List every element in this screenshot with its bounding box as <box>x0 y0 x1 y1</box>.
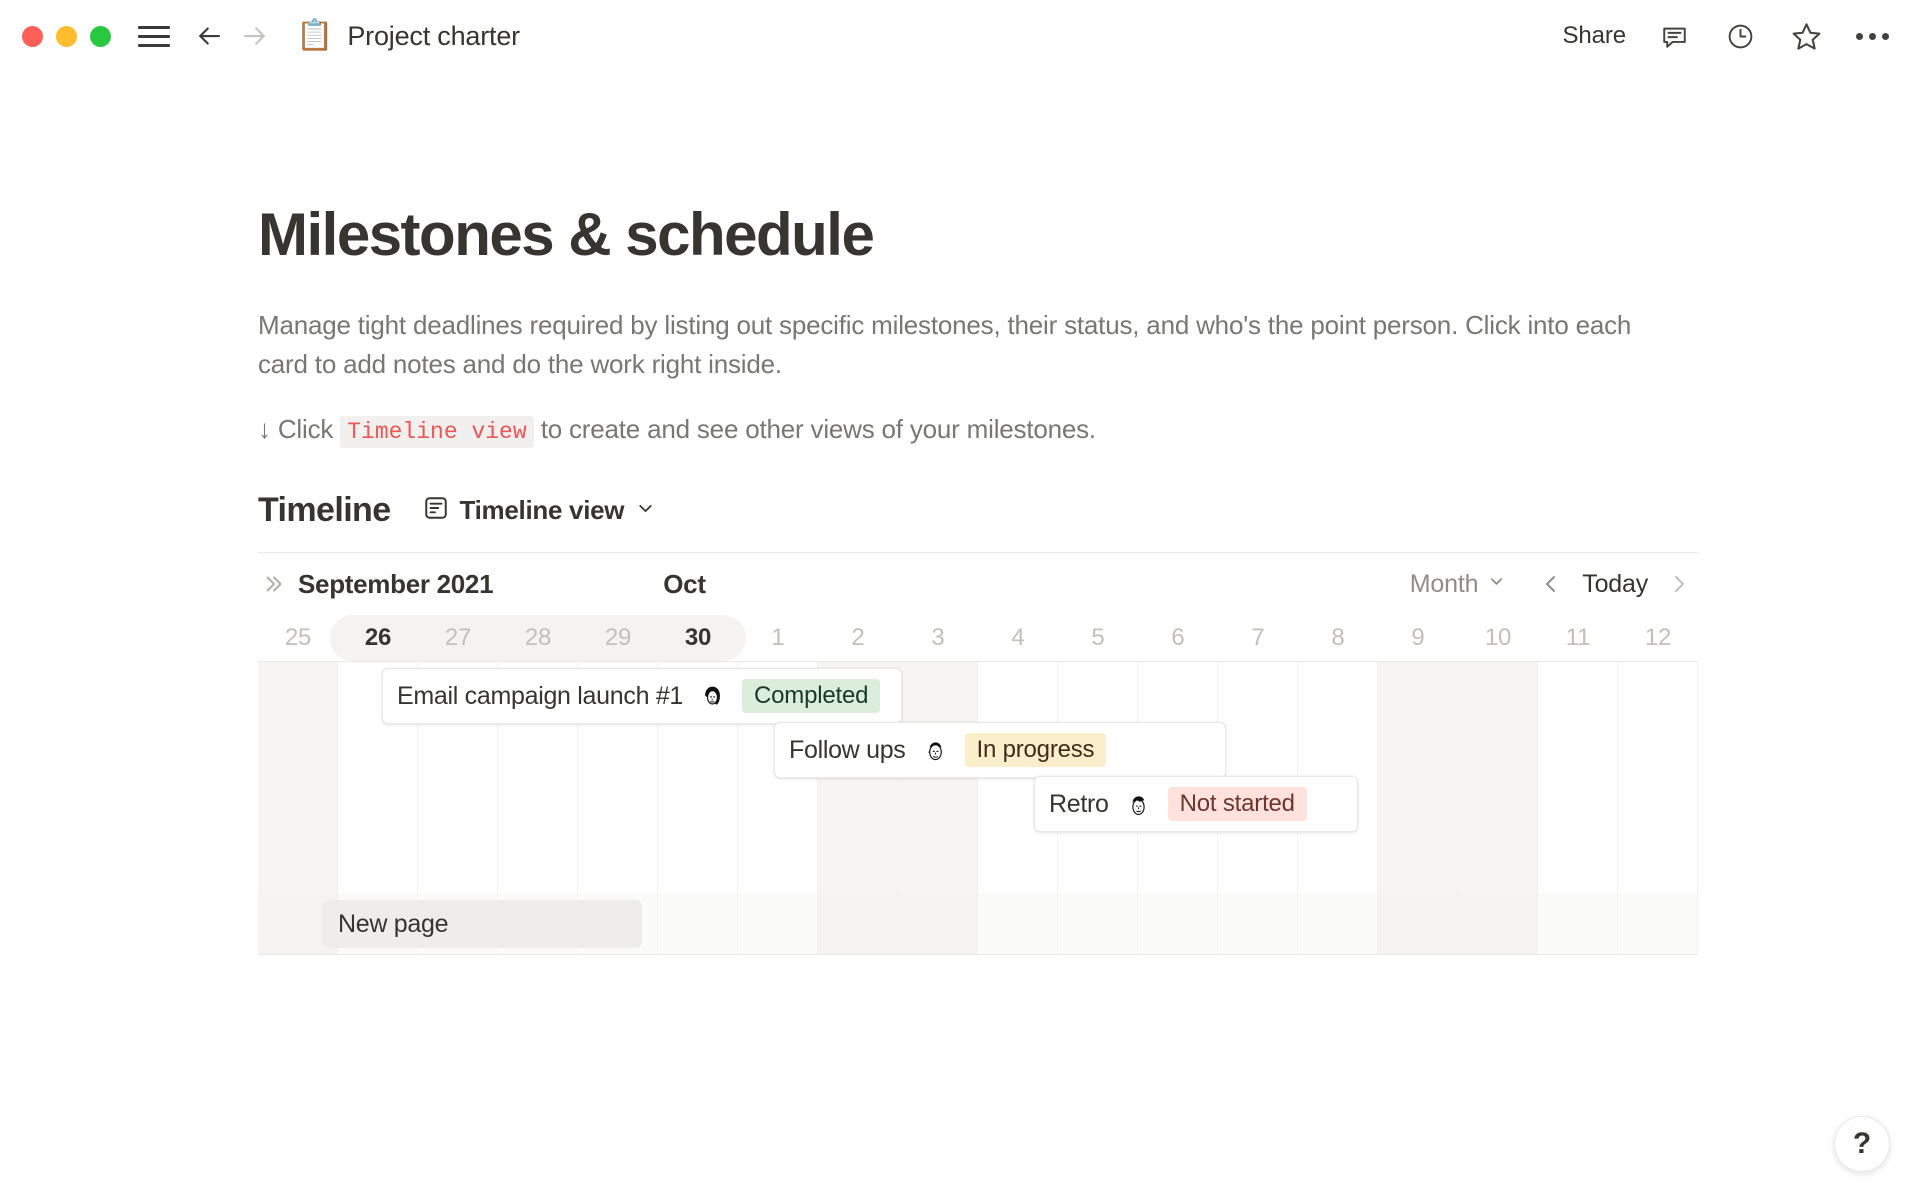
new-page-button[interactable]: New page <box>322 900 642 948</box>
document-title: Project charter <box>347 21 520 52</box>
page-description: Manage tight deadlines required by listi… <box>258 306 1638 384</box>
page-title: Milestones & schedule <box>258 202 1698 268</box>
day-header-cell[interactable]: 12 <box>1618 615 1698 661</box>
timeline-toolbar-right: Month Today <box>1410 567 1696 601</box>
timeline-month-secondary: Oct <box>663 569 705 600</box>
timeline-card[interactable]: Retro Not started <box>1034 776 1358 832</box>
timeline-newrow-column <box>1298 893 1378 955</box>
timeline-newrow-column <box>898 893 978 955</box>
timeline-grid-column <box>1538 662 1618 893</box>
timeline-newrow-column <box>1378 893 1458 955</box>
avatar-bob-hair-icon <box>696 680 729 713</box>
content-column: Milestones & schedule Manage tight deadl… <box>258 202 1698 955</box>
history-clock-icon[interactable] <box>1722 18 1758 54</box>
day-header-cell[interactable]: 27 <box>418 615 498 661</box>
timeline-view-icon <box>423 495 449 526</box>
timeline-grid-column <box>258 662 338 893</box>
dot <box>1869 33 1876 40</box>
timeline-day-header: 252627282930123456789101112 <box>258 615 1698 661</box>
timeline-prev-button[interactable] <box>1534 567 1568 601</box>
dot <box>1856 33 1863 40</box>
star-icon[interactable] <box>1788 18 1824 54</box>
day-header-cell[interactable]: 8 <box>1298 615 1378 661</box>
breadcrumb[interactable]: 📋 Project charter <box>296 21 520 52</box>
status-badge: Completed <box>742 679 880 713</box>
day-header-cell[interactable]: 2 <box>818 615 898 661</box>
timeline-toolbar: September 2021 Oct Month Today <box>258 553 1698 615</box>
day-header-cell[interactable]: 3 <box>898 615 978 661</box>
status-badge: Not started <box>1168 787 1307 821</box>
day-header-cell[interactable]: 7 <box>1218 615 1298 661</box>
timeline-card-title: Retro <box>1049 790 1109 819</box>
question-mark-icon: ? <box>1853 1127 1871 1161</box>
hint-text-after: to create and see other views of your mi… <box>541 414 1096 444</box>
expand-sidebar-icon[interactable] <box>260 571 286 597</box>
timeline-newrow-column <box>818 893 898 955</box>
day-header-cell[interactable]: 6 <box>1138 615 1218 661</box>
avatar-short-hair-icon <box>919 734 952 767</box>
timeline-today-button[interactable]: Today <box>1568 570 1662 599</box>
clipboard-icon: 📋 <box>296 21 333 51</box>
day-header-cell[interactable]: 4 <box>978 615 1058 661</box>
timeline-newrow-column <box>978 893 1058 955</box>
tab-timeline-view[interactable]: Timeline view <box>417 491 663 530</box>
traffic-light-controls <box>22 26 111 47</box>
page-content: Milestones & schedule Manage tight deadl… <box>0 72 1920 955</box>
sidebar-toggle-icon[interactable] <box>138 23 170 49</box>
timeline-grid: Email campaign launch #1 CompletedFollow… <box>258 661 1698 893</box>
day-header-cell[interactable]: 1 <box>738 615 818 661</box>
hint-line: ↓ Click Timeline view to create and see … <box>258 414 1698 445</box>
inline-code-timeline-view: Timeline view <box>340 416 533 448</box>
timeline-board: September 2021 Oct Month Today <box>258 552 1698 955</box>
tab-timeline-view-label: Timeline view <box>460 495 625 526</box>
titlebar-actions: Share <box>1562 18 1890 54</box>
timeline-grid-column <box>1378 662 1458 893</box>
window-titlebar: 📋 Project charter Share <box>0 0 1920 72</box>
chevron-down-icon[interactable] <box>635 498 656 524</box>
hamburger-line <box>138 35 170 38</box>
timeline-newrow-column <box>1218 893 1298 955</box>
day-header-cell[interactable]: 25 <box>258 615 338 661</box>
timeline-zoom-label: Month <box>1410 570 1478 599</box>
timeline-newpage-row: New page <box>258 893 1698 955</box>
more-options-icon[interactable] <box>1854 33 1890 40</box>
timeline-newrow-column <box>738 893 818 955</box>
timeline-card-title: Follow ups <box>789 736 906 765</box>
avatar-swoop-hair-icon <box>1122 788 1155 821</box>
timeline-card[interactable]: Follow ups In progress <box>774 722 1226 778</box>
hamburger-line <box>138 26 170 29</box>
comment-icon[interactable] <box>1656 18 1692 54</box>
timeline-card-title: Email campaign launch #1 <box>397 682 683 711</box>
share-button[interactable]: Share <box>1562 22 1626 50</box>
back-arrow-icon[interactable] <box>192 19 226 53</box>
day-header-cell[interactable]: 28 <box>498 615 578 661</box>
hamburger-line <box>138 44 170 47</box>
day-header-cell[interactable]: 29 <box>578 615 658 661</box>
maximize-window-button[interactable] <box>90 26 111 47</box>
timeline-month-primary: September 2021 <box>298 569 493 600</box>
day-header-cell[interactable]: 5 <box>1058 615 1138 661</box>
timeline-newrow-column <box>1458 893 1538 955</box>
timeline-newrow-column <box>1138 893 1218 955</box>
timeline-newrow-column <box>1538 893 1618 955</box>
hint-text-before: Click <box>278 414 333 444</box>
timeline-grid-column <box>1618 662 1698 893</box>
day-header-cell[interactable]: 10 <box>1458 615 1538 661</box>
minimize-window-button[interactable] <box>56 26 77 47</box>
down-arrow-icon: ↓ <box>258 414 271 444</box>
timeline-newrow-column <box>1618 893 1698 955</box>
timeline-heading: Timeline <box>258 491 391 530</box>
day-header-cell[interactable]: 30 <box>658 615 738 661</box>
timeline-card[interactable]: Email campaign launch #1 Completed <box>382 668 902 724</box>
close-window-button[interactable] <box>22 26 43 47</box>
day-header-cell[interactable]: 11 <box>1538 615 1618 661</box>
timeline-bottom-border <box>258 954 1698 955</box>
status-badge: In progress <box>965 733 1107 767</box>
dot <box>1882 33 1889 40</box>
help-button[interactable]: ? <box>1834 1116 1890 1172</box>
timeline-grid-column <box>1458 662 1538 893</box>
timeline-newrow-column <box>1058 893 1138 955</box>
timeline-newrow-column <box>658 893 738 955</box>
forward-arrow-icon[interactable] <box>238 19 272 53</box>
timeline-zoom-select[interactable]: Month <box>1410 570 1506 599</box>
new-page-label: New page <box>338 910 448 939</box>
day-header-cell[interactable]: 26 <box>338 615 418 661</box>
chevron-down-icon <box>1487 572 1506 596</box>
timeline-block-header: Timeline Timeline view <box>258 491 1698 530</box>
timeline-next-button[interactable] <box>1662 567 1696 601</box>
day-header-cell[interactable]: 9 <box>1378 615 1458 661</box>
